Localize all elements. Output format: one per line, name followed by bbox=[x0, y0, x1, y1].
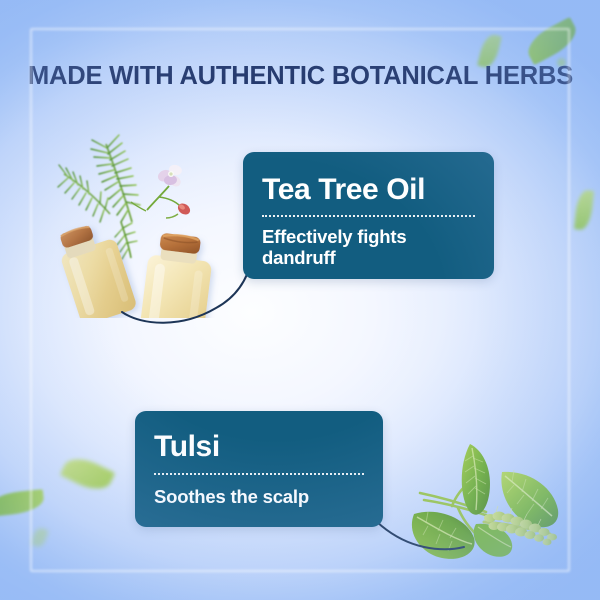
ingredient-card-tea-tree-oil[interactable]: Tea Tree Oil Effectively fights dandruff bbox=[243, 152, 494, 279]
floating-leaf-icon bbox=[60, 452, 115, 497]
tulsi-leaf-icon bbox=[462, 444, 490, 515]
floating-leaf-icon bbox=[522, 17, 582, 65]
botanical-oil-bottles-image bbox=[28, 118, 233, 318]
floating-leaf-icon bbox=[0, 489, 45, 517]
floating-leaf-speck-icon bbox=[30, 526, 48, 548]
page-title: MADE WITH AUTHENTIC BOTANICAL HERBS bbox=[28, 62, 573, 91]
ingredient-benefit: Soothes the scalp bbox=[154, 486, 364, 507]
dotted-divider bbox=[154, 473, 364, 475]
dotted-divider bbox=[262, 215, 475, 217]
poster-canvas: MADE WITH AUTHENTIC BOTANICAL HERBS Tea … bbox=[0, 0, 600, 600]
tulsi-leaves-image bbox=[398, 438, 600, 598]
ingredient-title: Tulsi bbox=[154, 432, 383, 462]
ingredient-title: Tea Tree Oil bbox=[262, 175, 494, 205]
ingredient-card-tulsi[interactable]: Tulsi Soothes the scalp bbox=[135, 411, 383, 527]
tulsi-leaf-icon bbox=[412, 512, 475, 559]
ingredient-benefit: Effectively fights dandruff bbox=[262, 226, 475, 269]
floating-leaf-icon bbox=[574, 189, 594, 230]
